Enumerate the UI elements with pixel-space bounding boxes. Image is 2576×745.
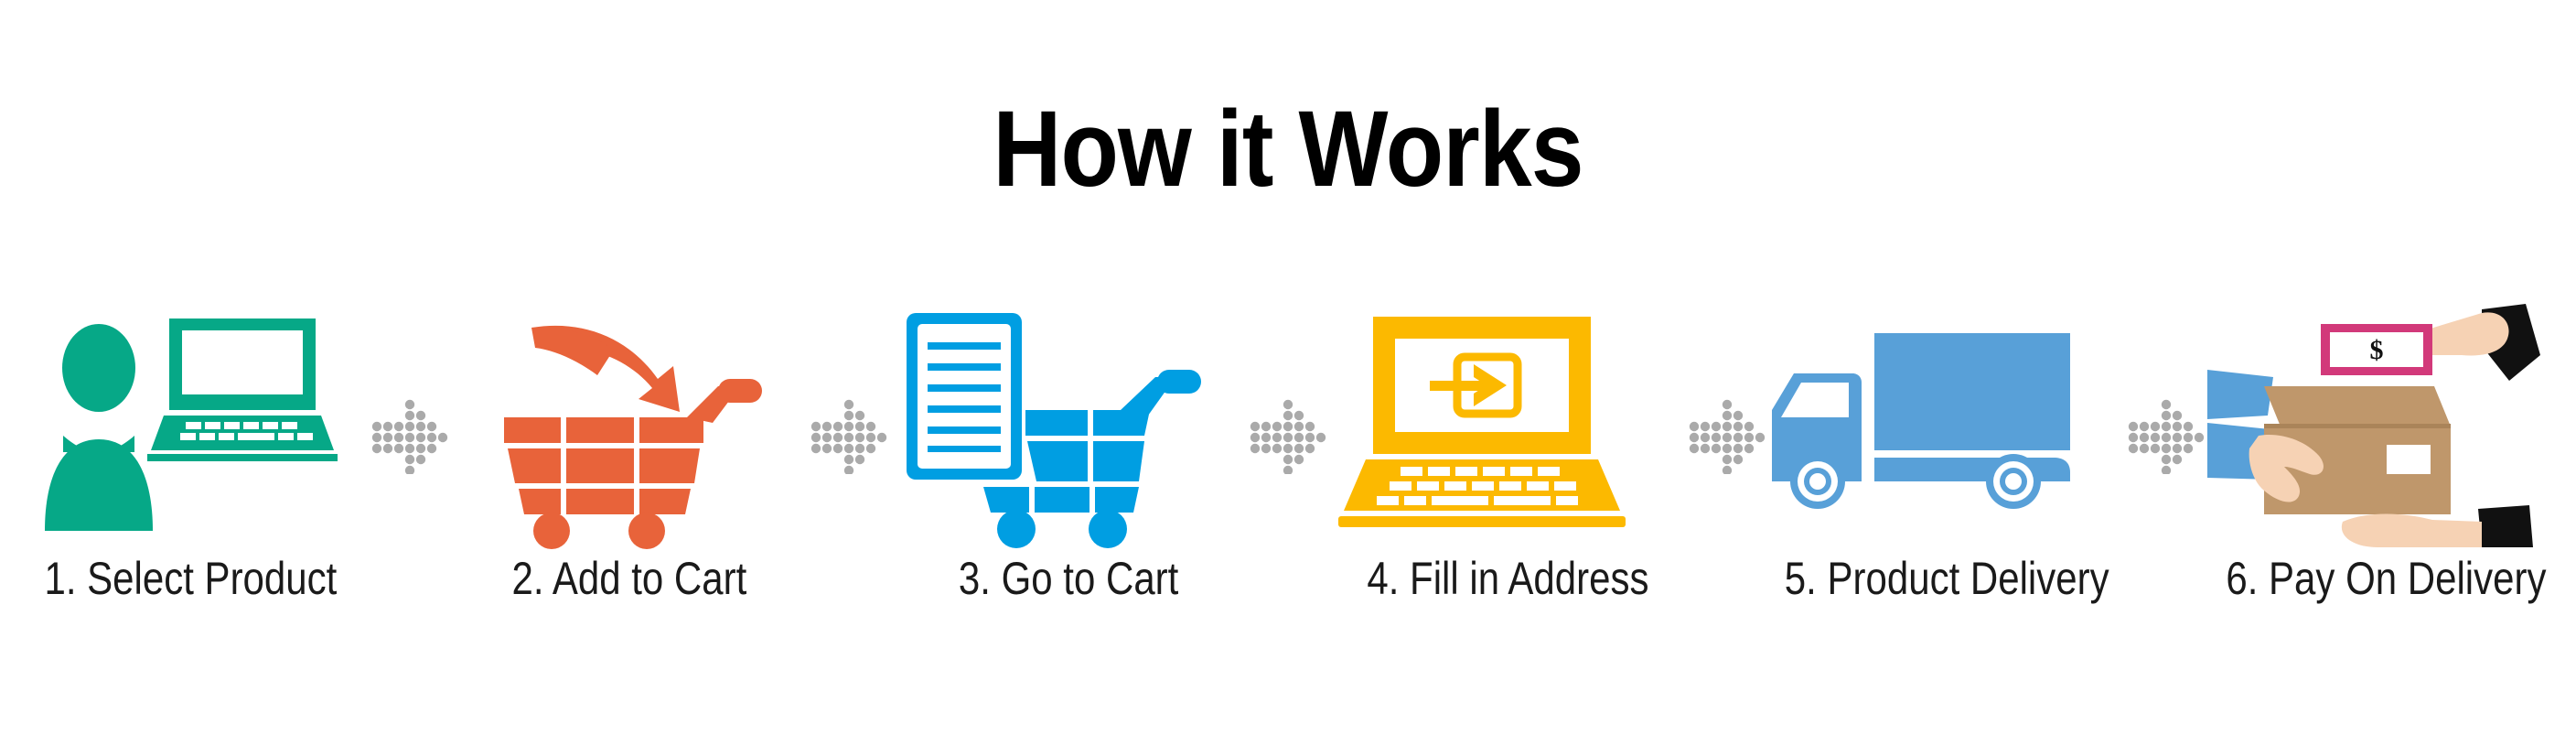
step-4-label: 4. Fill in Address (1367, 553, 1648, 604)
page-title: How it Works (155, 95, 2421, 203)
step-1-label: 1. Select Product (44, 553, 337, 604)
step-1-select-product[interactable]: 1. Select Product (12, 302, 369, 632)
step-3-label: 3. Go to Cart (959, 553, 1178, 604)
step-4-fill-in-address[interactable]: 4. Fill in Address (1329, 302, 1686, 632)
steps-strip: 1. Select Product (0, 302, 2576, 632)
person-with-laptop-icon (12, 302, 369, 549)
step-2-add-to-cart[interactable]: 2. Add to Cart (451, 302, 808, 632)
step-5-product-delivery[interactable]: 5. Product Delivery (1768, 302, 2125, 632)
box-top-face (2264, 386, 2451, 426)
delivery-truck-icon (1768, 302, 2125, 549)
step-6-pay-on-delivery[interactable]: $ (2207, 302, 2564, 632)
shopping-cart-with-arrow-icon (451, 302, 808, 549)
separator-1 (369, 302, 451, 632)
box-seam (2264, 424, 2451, 428)
step-2-label: 2. Add to Cart (512, 553, 747, 604)
sleeve-blue-upper (2207, 370, 2273, 419)
separator-3 (1247, 302, 1329, 632)
step-5-label: 5. Product Delivery (1785, 553, 2109, 604)
separator-2 (808, 302, 890, 632)
box-shipping-label (2387, 445, 2431, 474)
hands-exchanging-box-and-cash-icon: $ (2207, 302, 2564, 549)
banknote-dollar-symbol: $ (2370, 335, 2384, 365)
hand-bottom-right (2342, 514, 2482, 548)
separator-5 (2125, 302, 2207, 632)
document-with-cart-icon (890, 302, 1247, 549)
infographic-canvas: How it Works (0, 0, 2576, 745)
step-6-label: 6. Pay On Delivery (2226, 553, 2546, 604)
laptop-with-login-arrow-icon (1329, 302, 1686, 549)
sleeve-black-bottom (2478, 505, 2533, 547)
banknote: $ (2321, 324, 2432, 375)
step-3-go-to-cart[interactable]: 3. Go to Cart (890, 302, 1247, 632)
separator-4 (1686, 302, 1768, 632)
